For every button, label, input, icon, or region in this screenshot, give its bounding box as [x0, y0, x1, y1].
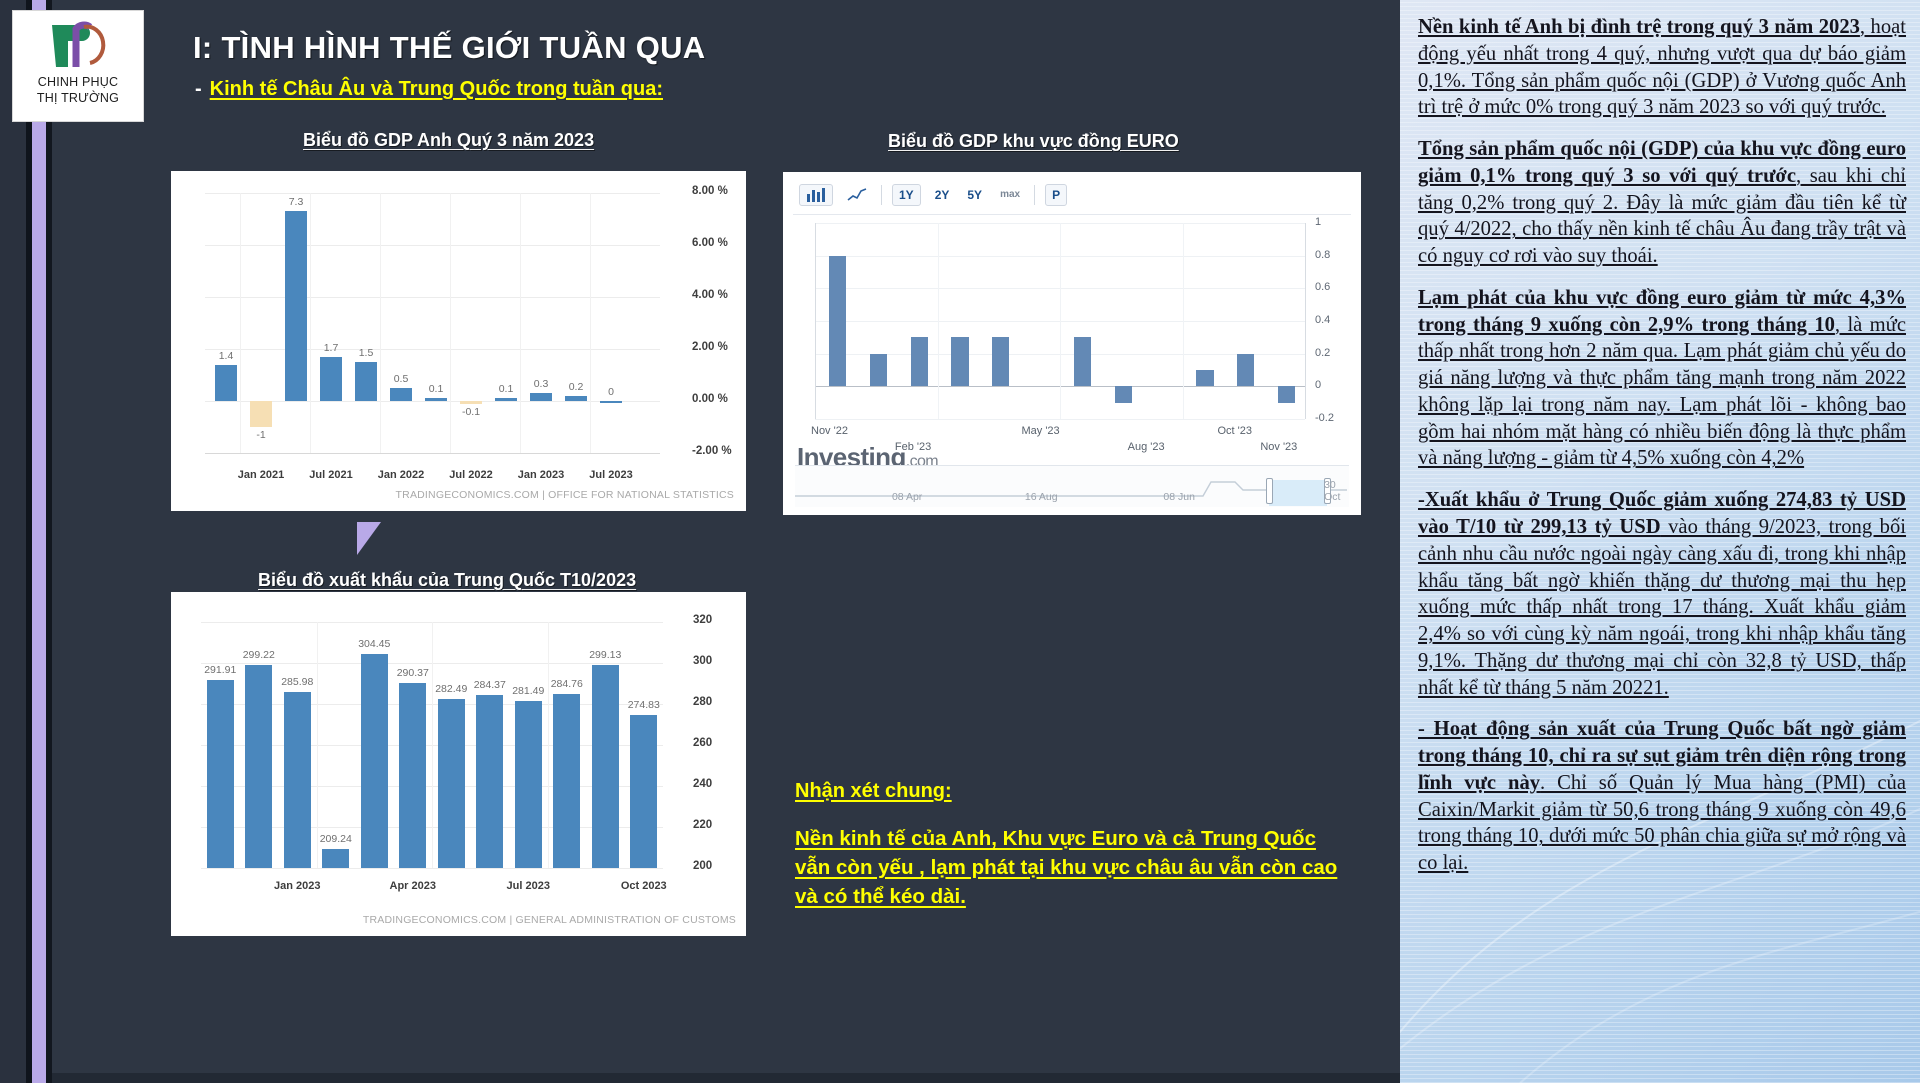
china-bar — [630, 715, 657, 868]
uk-bar — [355, 362, 377, 401]
euro-y-tick-label: 1 — [1315, 216, 1321, 228]
euro-bar — [1196, 370, 1213, 386]
uk-x-tick-label: Jan 2022 — [365, 469, 437, 481]
uk-gridline — [205, 245, 660, 246]
euro-y-tick-label: 0.2 — [1315, 347, 1330, 359]
range-handle-left[interactable] — [1266, 478, 1273, 504]
uk-y-tick-label: 0.00 % — [692, 393, 728, 405]
brand-name: CHINH PHỤC THỊ TRƯỜNG — [37, 75, 119, 106]
china-vertical-gridline — [432, 622, 433, 868]
uk-bar-value-label: 1.5 — [344, 347, 388, 359]
left-edge-accent-bar — [32, 0, 46, 1083]
uk-bar-value-label: 0.1 — [414, 383, 458, 395]
china-bar-value-label: 209.24 — [312, 833, 360, 845]
china-exports-chart-card: 320300280260240220200291.91299.22285.982… — [171, 592, 746, 936]
china-bar-value-label: 285.98 — [273, 676, 321, 688]
purple-triangle-accent — [357, 522, 381, 555]
euro-x-tick-label: Nov '22 — [811, 425, 848, 437]
uk-gridline — [205, 401, 660, 402]
china-bar — [476, 695, 503, 868]
uk-bar — [425, 398, 447, 401]
china-bar — [592, 665, 619, 868]
brand-line-2: THỊ TRƯỜNG — [37, 91, 119, 105]
china-x-tick-label: Oct 2023 — [608, 880, 680, 892]
uk-vertical-gridline — [310, 193, 311, 453]
uk-y-tick-label: -2.00 % — [692, 445, 732, 457]
line-chart-icon[interactable] — [843, 185, 871, 205]
range-tick-label: 08 Apr — [892, 491, 922, 503]
euro-range-slider[interactable]: 08 Apr16 Aug08 Jun30 Oct — [795, 465, 1349, 507]
toolbar-divider-1 — [881, 185, 882, 205]
china-bar — [284, 692, 311, 868]
euro-vertical-gridline — [938, 223, 939, 419]
china-bar-value-label: 304.45 — [350, 638, 398, 650]
china-y-tick-label: 280 — [693, 696, 712, 708]
china-y-tick-label: 200 — [693, 860, 712, 872]
china-bar — [322, 849, 349, 868]
page-title: I: TÌNH HÌNH THẾ GIỚI TUẦN QUA — [193, 30, 705, 66]
uk-bar-value-label: 1.4 — [204, 350, 248, 362]
china-x-tick-label: Jul 2023 — [492, 880, 564, 892]
comment-body: Nền kinh tế của Anh, Khu vực Euro và cả … — [795, 824, 1355, 911]
range-max-button[interactable]: max — [996, 185, 1024, 205]
uk-x-tick-label: Jan 2023 — [505, 469, 577, 481]
china-y-tick-label: 260 — [693, 737, 712, 749]
china-bar-value-label: 290.37 — [389, 667, 437, 679]
uk-gridline — [205, 193, 660, 194]
slide-bottom-strip — [52, 1073, 1400, 1083]
uk-gridline — [205, 349, 660, 350]
euro-bar — [1278, 386, 1295, 402]
uk-gridline — [205, 297, 660, 298]
euro-bar — [951, 337, 968, 386]
uk-bar-value-label: -0.1 — [449, 406, 493, 418]
euro-bar — [1074, 337, 1091, 386]
uk-bar-value-label: -1 — [239, 429, 283, 441]
article-p3-rest: , là mức thấp nhất trong hơn 2 năm qua. … — [1418, 314, 1906, 470]
uk-y-tick-label: 4.00 % — [692, 289, 728, 301]
uk-y-tick-label: 6.00 % — [692, 237, 728, 249]
euro-left-axis — [815, 223, 816, 419]
china-y-tick-label: 300 — [693, 655, 712, 667]
euro-bar — [829, 256, 846, 387]
brand-logo-icon — [46, 17, 110, 73]
euro-y-tick-label: -0.2 — [1315, 412, 1334, 424]
uk-x-tick-label: Jul 2021 — [295, 469, 367, 481]
uk-vertical-gridline — [380, 193, 381, 453]
china-bar — [399, 683, 426, 868]
china-chart-source: TRADINGECONOMICS.COM | GENERAL ADMINISTR… — [363, 914, 736, 926]
left-edge-dark-band — [0, 0, 26, 1083]
article-p1-bold: Nền kinh tế Anh bị đình trệ trong quý 3 … — [1418, 16, 1860, 38]
euro-right-axis — [1305, 223, 1306, 419]
uk-bar-value-label: 7.3 — [274, 196, 318, 208]
euro-chart-toolbar[interactable]: 1Y 2Y 5Y max P — [793, 180, 1351, 210]
uk-bar — [320, 357, 342, 401]
euro-x-tick-label: Nov '23 — [1260, 441, 1297, 453]
euro-y-tick-label: 0.4 — [1315, 314, 1330, 326]
euro-y-tick-label: 0 — [1315, 379, 1321, 391]
china-bar — [207, 680, 234, 868]
china-y-tick-label: 240 — [693, 778, 712, 790]
uk-bar — [600, 401, 622, 403]
china-chart-plot: 320300280260240220200291.91299.22285.982… — [201, 622, 663, 868]
china-x-tick-label: Jan 2023 — [261, 880, 333, 892]
range-1y-button[interactable]: 1Y — [892, 184, 921, 206]
euro-y-tick-label: 0.8 — [1315, 249, 1330, 261]
uk-y-tick-label: 8.00 % — [692, 185, 728, 197]
uk-vertical-gridline — [520, 193, 521, 453]
china-bar-value-label: 274.83 — [620, 699, 668, 711]
uk-chart-plot: 8.00 %6.00 %4.00 %2.00 %0.00 %-2.00 %1.4… — [205, 193, 660, 453]
china-gridline — [201, 868, 663, 869]
uk-bar — [495, 398, 517, 401]
uk-zero-axis — [205, 453, 660, 454]
uk-bar — [285, 211, 307, 401]
euro-bar — [992, 337, 1009, 386]
brand-logo: CHINH PHỤC THỊ TRƯỜNG — [12, 10, 144, 122]
euro-x-tick-label: May '23 — [1022, 425, 1060, 437]
range-tick-label: 16 Aug — [1025, 491, 1058, 503]
subtitle-text: Kinh tế Châu Âu và Trung Quốc trong tuần… — [210, 78, 663, 101]
china-bar — [553, 694, 580, 868]
uk-bar — [215, 365, 237, 401]
china-chart-title: Biểu đồ xuất khẩu của Trung Quốc T10/202… — [258, 570, 636, 591]
subtitle-row: - Kinh tế Châu Âu và Trung Quốc trong tu… — [195, 78, 663, 101]
china-bar-value-label: 299.13 — [581, 649, 629, 661]
euro-bar — [870, 354, 887, 387]
range-tick-label: 30 Oct — [1324, 479, 1349, 503]
comment-heading: Nhận xét chung: — [795, 780, 952, 803]
range-5y-button[interactable]: 5Y — [963, 185, 986, 205]
uk-bar — [390, 388, 412, 401]
range-2y-button[interactable]: 2Y — [931, 185, 954, 205]
range-selection-fill[interactable] — [1269, 480, 1327, 506]
article-paragraph-5: - Hoạt động sản xuất của Trung Quốc bất … — [1418, 716, 1906, 877]
china-x-tick-label: Apr 2023 — [377, 880, 449, 892]
euro-x-tick-label: Oct '23 — [1218, 425, 1253, 437]
uk-y-tick-label: 2.00 % — [692, 341, 728, 353]
euro-gdp-chart-card: 1Y 2Y 5Y max P 10.80.60.40.20-0.2Nov '22… — [783, 172, 1361, 515]
uk-vertical-gridline — [590, 193, 591, 453]
china-vertical-gridline — [548, 622, 549, 868]
p-button[interactable]: P — [1045, 184, 1067, 206]
article-p4-rest: vào tháng 9/2023, trong bối cảnh nhu cầu… — [1418, 516, 1906, 699]
article-paragraph-1: Nền kinh tế Anh bị đình trệ trong quý 3 … — [1418, 14, 1906, 121]
china-bar — [245, 665, 272, 868]
euro-bar — [911, 337, 928, 386]
euro-y-tick-label: 0.6 — [1315, 281, 1330, 293]
china-bar — [438, 699, 465, 868]
article-paragraph-4: -Xuất khẩu ở Trung Quốc giảm xuống 274,8… — [1418, 487, 1906, 701]
china-bar-value-label: 291.91 — [196, 664, 244, 676]
uk-bar — [250, 401, 272, 427]
uk-bar — [530, 393, 552, 401]
uk-x-tick-label: Jan 2021 — [225, 469, 297, 481]
uk-chart-title: Biểu đồ GDP Anh Quý 3 năm 2023 — [303, 130, 594, 151]
euro-gridline — [815, 419, 1305, 420]
china-bar — [361, 654, 388, 868]
euro-chart-plot: 10.80.60.40.20-0.2Nov '22Feb '23May '23A… — [793, 214, 1351, 459]
euro-vertical-gridline — [1060, 223, 1061, 419]
china-bar-value-label: 284.76 — [543, 678, 591, 690]
bar-chart-icon[interactable] — [799, 184, 833, 206]
china-y-tick-label: 220 — [693, 819, 712, 831]
article-paragraph-3: Lạm phát của khu vực đồng euro giảm từ m… — [1418, 285, 1906, 472]
range-tick-label: 08 Jun — [1163, 491, 1195, 503]
uk-bar-value-label: 0 — [589, 386, 633, 398]
uk-vertical-gridline — [240, 193, 241, 453]
china-bar — [515, 701, 542, 868]
china-bar-value-label: 299.22 — [235, 649, 283, 661]
uk-gdp-chart-card: 8.00 %6.00 %4.00 %2.00 %0.00 %-2.00 %1.4… — [171, 171, 746, 511]
euro-chart-title: Biểu đồ GDP khu vực đồng EURO — [888, 131, 1179, 152]
uk-chart-source: TRADINGECONOMICS.COM | OFFICE FOR NATION… — [396, 489, 734, 501]
toolbar-divider-2 — [1034, 185, 1035, 205]
brand-line-1: CHINH PHỤC — [38, 75, 118, 89]
euro-x-tick-label: Aug '23 — [1128, 441, 1165, 453]
euro-bar — [1237, 354, 1254, 387]
article-paragraph-2: Tổng sản phẩm quốc nội (GDP) của khu vực… — [1418, 136, 1906, 270]
china-y-tick-label: 320 — [693, 614, 712, 626]
china-vertical-gridline — [317, 622, 318, 868]
euro-bar — [1115, 386, 1132, 402]
uk-x-tick-label: Jul 2022 — [435, 469, 507, 481]
euro-vertical-gridline — [1183, 223, 1184, 419]
subtitle-dash: - — [195, 78, 202, 101]
uk-bar — [565, 396, 587, 401]
article-column: Nền kinh tế Anh bị đình trệ trong quý 3 … — [1400, 0, 1920, 1083]
article-p3-bold: Lạm phát của khu vực đồng euro giảm từ m… — [1418, 287, 1906, 336]
uk-x-tick-label: Jul 2023 — [575, 469, 647, 481]
uk-bar — [460, 401, 482, 404]
